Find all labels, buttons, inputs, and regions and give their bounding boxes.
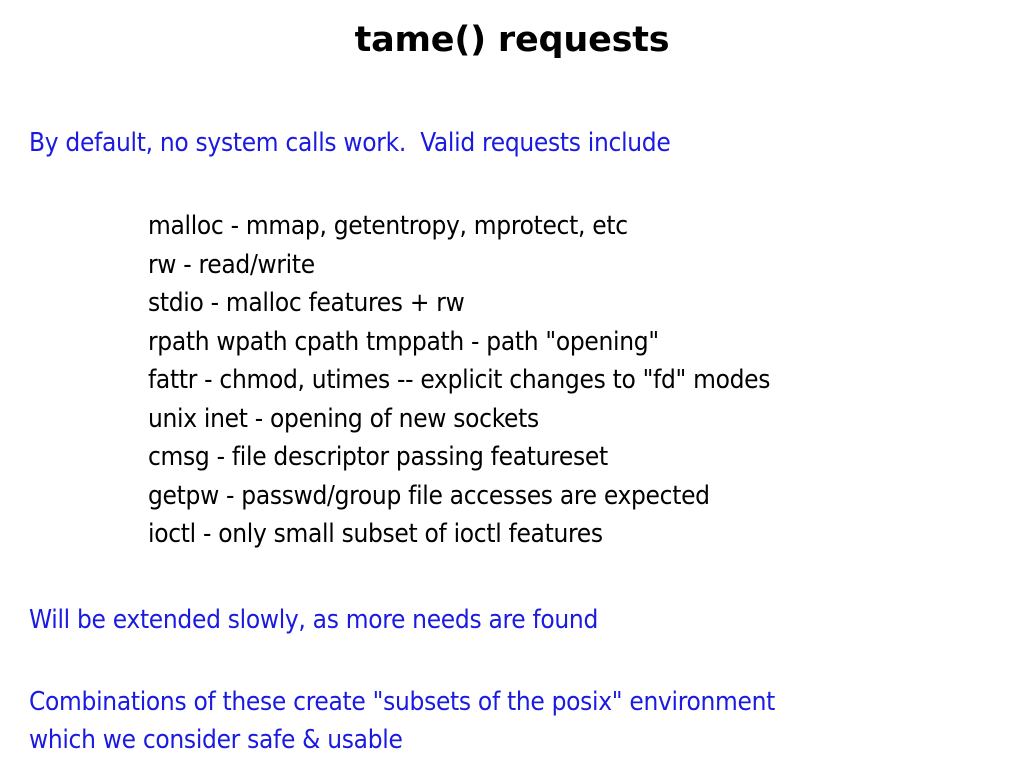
- presentation-slide: tame() requests By default, no system ca…: [0, 0, 1024, 768]
- closing-paragraph-combinations: Combinations of these create "subsets of…: [29, 683, 775, 759]
- tame-request-list: malloc - mmap, getentropy, mprotect, etc…: [148, 207, 770, 554]
- list-item: rpath wpath cpath tmppath - path "openin…: [148, 323, 770, 362]
- list-item: cmsg - file descriptor passing featurese…: [148, 438, 770, 477]
- intro-paragraph: By default, no system calls work. Valid …: [29, 128, 670, 158]
- list-item: stdio - malloc features + rw: [148, 284, 770, 323]
- list-item: fattr - chmod, utimes -- explicit change…: [148, 361, 770, 400]
- list-item: malloc - mmap, getentropy, mprotect, etc: [148, 207, 770, 246]
- list-item: unix inet - opening of new sockets: [148, 400, 770, 439]
- list-item: getpw - passwd/group file accesses are e…: [148, 477, 770, 516]
- list-item: ioctl - only small subset of ioctl featu…: [148, 515, 770, 554]
- list-item: rw - read/write: [148, 246, 770, 285]
- closing-paragraph-extensibility: Will be extended slowly, as more needs a…: [29, 601, 598, 639]
- page-title: tame() requests: [0, 20, 1024, 60]
